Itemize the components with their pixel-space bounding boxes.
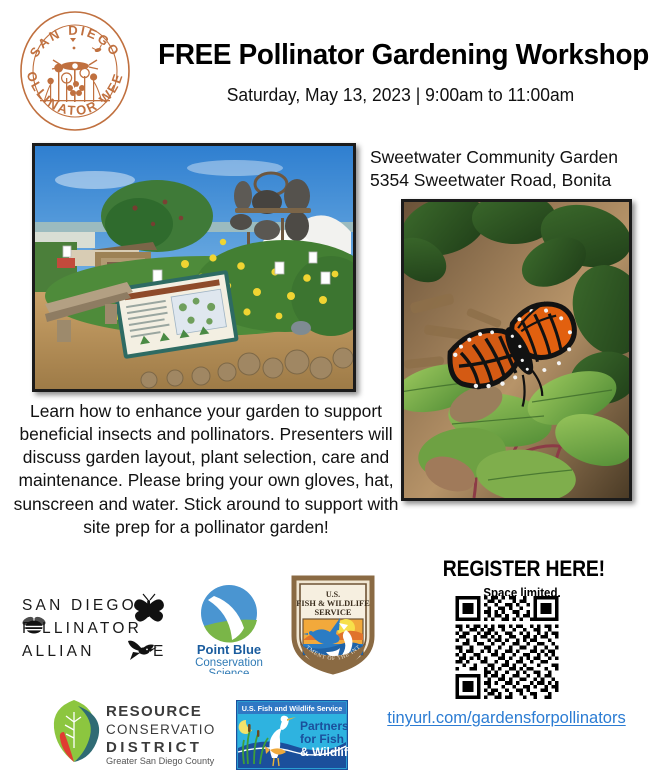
- point-blue-line-3: Science: [209, 668, 250, 674]
- partners-header: U.S. Fish and Wildlife Service: [242, 704, 343, 713]
- rcd-leaf-icon: [54, 700, 99, 762]
- butterfly-photo: [401, 199, 632, 501]
- usfws-seal-logo: U.S. FISH & WILDLIFE SERVICE DEPARTMENT …: [288, 572, 378, 676]
- point-blue-line-1: Point Blue: [197, 642, 261, 657]
- rcd-line-2: CONSERVATION: [106, 722, 216, 737]
- usfws-line-1: U.S.: [326, 590, 340, 599]
- partners-line-3: & Wildlife: [300, 745, 348, 759]
- partners-svg: U.S. Fish and Wildlife Service Partners …: [236, 700, 348, 770]
- qr-code-svg[interactable]: [455, 596, 559, 699]
- register-block: REGISTER HERE! Space limited.: [432, 556, 612, 600]
- registration-qr-code[interactable]: [455, 596, 559, 699]
- partners-for-fish-and-wildlife-logo: U.S. Fish and Wildlife Service Partners …: [236, 700, 348, 770]
- garden-photo-art: [35, 146, 353, 389]
- butterfly-photo-art: [404, 202, 629, 498]
- partners-line-1: Partners: [300, 719, 348, 733]
- usfws-svg: U.S. FISH & WILDLIFE SERVICE DEPARTMENT …: [288, 572, 378, 676]
- badge-top-text: SAN DIEGO: [27, 23, 124, 60]
- garden-photo: [32, 143, 356, 392]
- badge-svg: SAN DIEGO POLLINATOR WEEK: [14, 6, 136, 136]
- sdpa-line-3b: E: [153, 643, 167, 660]
- wildflower-illustration: [40, 38, 110, 102]
- sdpa-svg: SAN DIEGO P LLINATOR ALLIAN E: [20, 592, 172, 664]
- sdpa-line-2b: LLINATOR: [42, 620, 142, 637]
- partners-line-2: for Fish: [300, 732, 344, 746]
- sdpa-line-1: SAN DIEGO: [22, 597, 137, 614]
- registration-link[interactable]: tinyurl.com/gardensforpollinators: [360, 709, 653, 728]
- usfws-line-3: SERVICE: [315, 608, 352, 617]
- description-text: Learn how to enhance your garden to supp…: [8, 400, 404, 539]
- register-heading: REGISTER HERE!: [443, 556, 601, 582]
- event-datetime: Saturday, May 13, 2023 | 9:00am to 11:00…: [156, 85, 646, 106]
- venue-address: 5354 Sweetwater Road, Bonita: [370, 169, 653, 192]
- resource-conservation-district-logo: RESOURCE CONSERVATION DISTRICT Greater S…: [48, 696, 216, 768]
- page-title: FREE Pollinator Gardening Workshop: [158, 40, 643, 70]
- pollinator-week-badge-logo: SAN DIEGO POLLINATOR WEEK: [14, 6, 136, 136]
- rcd-line-1: RESOURCE: [106, 703, 202, 720]
- venue-name: Sweetwater Community Garden: [370, 146, 653, 169]
- point-blue-svg: Point Blue Conservation Science: [180, 582, 278, 674]
- sdpa-line-3: ALLIAN: [22, 643, 95, 660]
- rcd-svg: RESOURCE CONSERVATION DISTRICT Greater S…: [48, 696, 216, 768]
- rcd-tagline: Greater San Diego County: [106, 756, 215, 766]
- usfws-line-2: FISH & WILDLIFE: [296, 599, 370, 608]
- san-diego-pollinator-alliance-logo: SAN DIEGO P LLINATOR ALLIAN E: [20, 592, 172, 664]
- header-text-block: FREE Pollinator Gardening Workshop Satur…: [148, 40, 653, 106]
- butterfly-icon: [134, 594, 164, 622]
- point-blue-logo: Point Blue Conservation Science: [180, 582, 278, 674]
- rcd-line-3: DISTRICT: [106, 739, 202, 756]
- venue-block: Sweetwater Community Garden 5354 Sweetwa…: [370, 146, 653, 191]
